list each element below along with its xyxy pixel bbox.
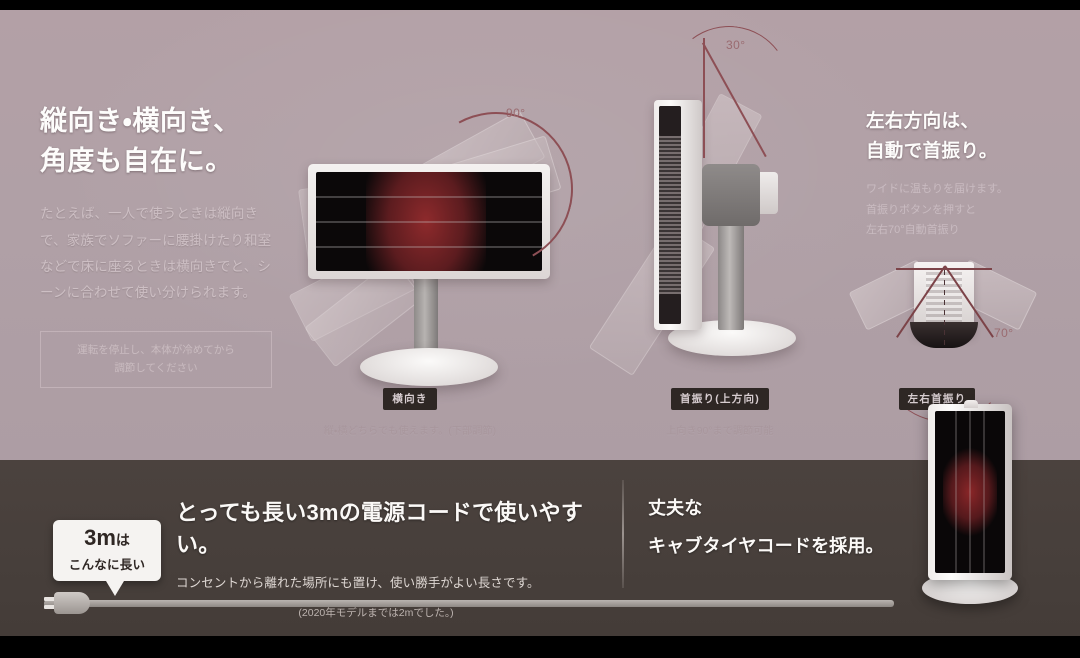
lower-heading: とっても長い3mの電源コードで使いやすい。 xyxy=(176,495,616,559)
right-copy-block: 左右方向は、 自動で首振り。 ワイドに温もりを届けます。 首振りボタンを押すと … xyxy=(866,106,1076,240)
product-image-swing-topdown: 70° xyxy=(852,260,1042,380)
lower-left-copy: とっても長い3mの電源コードで使いやすい。 コンセントから離れた場所にも置け、使… xyxy=(176,495,616,620)
angle-label-70: 70° xyxy=(994,326,1014,340)
heater-glass-panel xyxy=(935,411,1005,573)
caption-subtext: 縦・横どちらでも使えます。(下部調節) xyxy=(320,422,500,437)
heater-grill-cap-bottom xyxy=(659,294,681,324)
callout-bubble-tail xyxy=(106,581,124,596)
left-heading-line2: 角度も自在に。 xyxy=(40,142,272,182)
product-image-horizontal-heater: 90° xyxy=(284,136,584,398)
heater-tube-line xyxy=(969,411,971,573)
letterbox-bar-bottom xyxy=(0,636,1080,658)
left-heading-line1: 縦向き・横向き、 xyxy=(40,102,272,142)
right-heading-line2: 自動で首振り。 xyxy=(866,136,1076,166)
heater-grill xyxy=(659,106,681,324)
heater-tilt-joint xyxy=(702,164,760,226)
lower-right-copy: 丈夫な キャブタイヤコードを採用。 xyxy=(648,494,928,558)
callout-number: 3m xyxy=(84,525,116,550)
lower-right-line1: 丈夫な xyxy=(648,494,928,520)
caption-badge: 首振り(上方向) xyxy=(671,388,769,410)
letterbox-bar-top xyxy=(0,0,1080,10)
angle-label-90: 90° xyxy=(506,106,526,120)
angle-label-30: 30° xyxy=(726,38,746,52)
section-divider xyxy=(622,480,624,588)
right-heading-line1: 左右方向は、 xyxy=(866,106,1076,136)
heater-handle xyxy=(964,400,978,408)
caption-badge: 横向き xyxy=(383,388,436,410)
callout-bubble-3m: 3mは こんなに長い xyxy=(53,520,161,596)
left-note-line1: 運転を停止し、本体が冷めてから xyxy=(49,341,263,359)
heater-tube-line xyxy=(983,411,985,573)
heater-tube-line xyxy=(955,411,957,573)
heater-base xyxy=(360,348,498,386)
right-body-line1: ワイドに温もりを届けます。 xyxy=(866,179,1076,199)
right-body-text: ワイドに温もりを届けます。 首振りボタンを押すと 左右70°自動首振り xyxy=(866,179,1076,240)
lower-subtext: コンセントから離れた場所にも置け、使い勝手がよい長さです。 xyxy=(176,572,616,591)
left-note-line2: 調節してください xyxy=(49,359,263,377)
heater-stem xyxy=(718,220,744,330)
caption-tilt-up: 首振り(上方向) 上向き90°まで調節可能 xyxy=(620,388,820,437)
right-body-line3: 左右70°自動首振り xyxy=(866,220,1076,240)
callout-bubble-box: 3mは こんなに長い xyxy=(53,520,161,581)
product-image-vertical-heater-front xyxy=(916,404,1036,626)
lower-note: (2020年モデルまでは2mでした。) xyxy=(176,605,616,620)
heater-stem xyxy=(414,276,438,358)
product-marketing-image: 縦向き・横向き、 角度も自在に。 たとえば、一人で使うときは縦向きで、家族でソフ… xyxy=(0,0,1080,658)
caption-horizontal: 横向き 縦・横どちらでも使えます。(下部調節) xyxy=(320,388,500,437)
lower-right-line2: キャブタイヤコードを採用。 xyxy=(648,532,928,558)
upper-section: 縦向き・横向き、 角度も自在に。 たとえば、一人で使うときは縦向きで、家族でソフ… xyxy=(0,10,1080,460)
product-image-vertical-heater-side: 30° xyxy=(626,72,816,398)
caption-subtext: 上向き90°まで調節可能 xyxy=(620,422,820,437)
left-body-text: たとえば、一人で使うときは縦向きで、家族でソファーに腰掛けたり和室などで床に座る… xyxy=(40,201,272,306)
callout-unit: は xyxy=(116,532,130,548)
callout-subtext: こんなに長い xyxy=(59,554,155,573)
callout-value: 3mは xyxy=(59,527,155,549)
left-note-box: 運転を停止し、本体が冷めてから 調節してください xyxy=(40,331,272,389)
right-body-line2: 首振りボタンを押すと xyxy=(866,200,1076,220)
left-copy-block: 縦向き・横向き、 角度も自在に。 たとえば、一人で使うときは縦向きで、家族でソフ… xyxy=(40,102,272,388)
